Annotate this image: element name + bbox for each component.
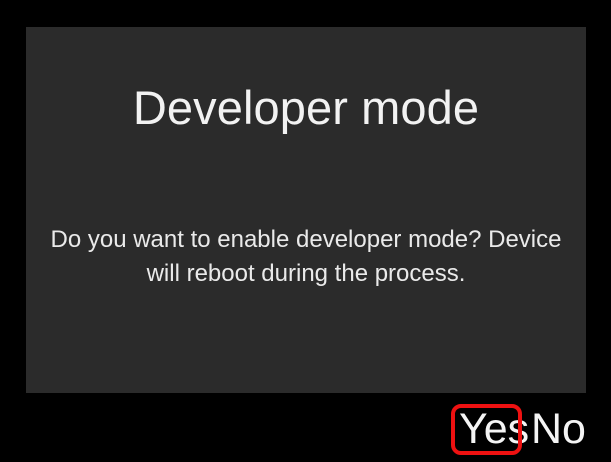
dialog-message: Do you want to enable developer mode? De…	[50, 223, 562, 291]
dialog-button-row: Yes No	[0, 393, 611, 462]
dialog-title: Developer mode	[26, 82, 586, 135]
screen: Developer mode Do you want to enable dev…	[0, 0, 611, 462]
yes-button[interactable]: Yes	[459, 408, 529, 451]
developer-mode-dialog: Developer mode Do you want to enable dev…	[26, 27, 586, 393]
no-button[interactable]: No	[531, 408, 586, 451]
